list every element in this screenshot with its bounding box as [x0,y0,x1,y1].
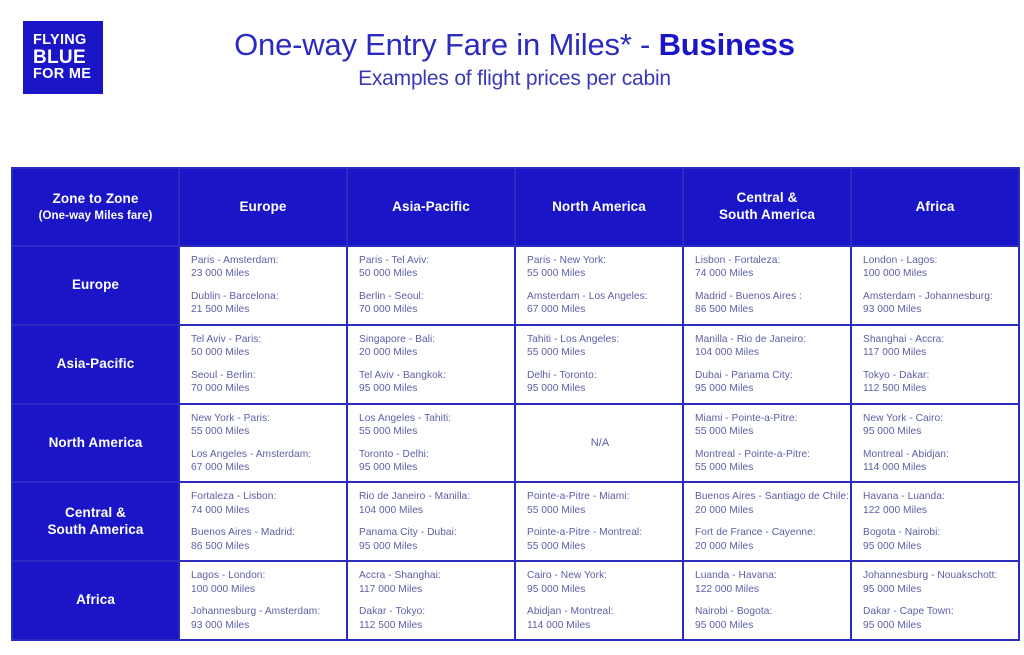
fare-route: Dublin - Barcelona: [191,290,337,303]
fare-example: Dubai - Panama City:95 000 Miles [695,369,841,396]
column-header-label: North America [552,199,646,214]
fare-miles: 20 000 Miles [695,540,841,553]
fare-cell-r3-c2: Pointe-a-Pitre - Miami:55 000 MilesPoint… [516,483,682,560]
row-header-label-line2: South America [19,522,172,539]
fare-example: Johannesburg - Nouakschott:95 000 Miles [863,569,1009,596]
column-header-europe: Europe [180,169,346,245]
fare-example: Tel Aviv - Paris:50 000 Miles [191,333,337,360]
fare-cell-r1-c1: Singapore - Bali:20 000 MilesTel Aviv - … [348,326,514,403]
fare-route: Fortaleza - Lisbon: [191,490,337,503]
fare-route: Tel Aviv - Bangkok: [359,369,505,382]
fare-cell-r2-c4: New York - Cairo:95 000 MilesMontreal - … [852,405,1018,482]
fare-route: Los Angeles - Tahiti: [359,412,505,425]
fare-example: Cairo - New York:95 000 Miles [527,569,673,596]
fare-route: Havana - Luanda: [863,490,1009,503]
fare-miles: 55 000 Miles [191,425,337,438]
fare-miles: 67 000 Miles [191,461,337,474]
fare-example: Tel Aviv - Bangkok:95 000 Miles [359,369,505,396]
fare-route: Shanghai - Accra: [863,333,1009,346]
fare-miles: 95 000 Miles [863,619,1009,632]
fare-example: Madrid - Buenos Aires :86 500 Miles [695,290,841,317]
fare-miles: 95 000 Miles [695,619,841,632]
fare-miles: 114 000 Miles [527,619,673,632]
table-header-row: Zone to Zone (One-way Miles fare) Europe… [13,169,1018,245]
row-header-europe: Europe [13,247,178,324]
fare-example: Miami - Pointe-a-Pitre:55 000 Miles [695,412,841,439]
fare-example: Havana - Luanda:122 000 Miles [863,490,1009,517]
fare-miles: 67 000 Miles [527,303,673,316]
title-block: One-way Entry Fare in Miles* - Business … [120,26,1024,91]
fare-route: Madrid - Buenos Aires : [695,290,841,303]
fare-cell-r4-c2: Cairo - New York:95 000 MilesAbidjan - M… [516,562,682,639]
fare-table-body: EuropeParis - Amsterdam:23 000 MilesDubl… [13,247,1018,639]
fare-route: Pointe-a-Pitre - Miami: [527,490,673,503]
fare-example: Paris - New York:55 000 Miles [527,254,673,281]
fare-route: Tahiti - Los Angeles: [527,333,673,346]
fare-route: Tokyo - Dakar: [863,369,1009,382]
fare-route: Miami - Pointe-a-Pitre: [695,412,841,425]
fare-route: Paris - Amsterdam: [191,254,337,267]
fare-example: Panama City - Dubai:95 000 Miles [359,526,505,553]
row-header-label: Asia-Pacific [57,356,135,371]
fare-example: Bogota - Nairobi:95 000 Miles [863,526,1009,553]
fare-miles: 117 000 Miles [863,346,1009,359]
fare-miles: 93 000 Miles [191,619,337,632]
fare-route: Los Angeles - Amsterdam: [191,448,337,461]
fare-route: Tel Aviv - Paris: [191,333,337,346]
fare-cell-r0-c1: Paris - Tel Aviv:50 000 MilesBerlin - Se… [348,247,514,324]
fare-miles: 104 000 Miles [695,346,841,359]
fare-route: London - Lagos: [863,254,1009,267]
logo-line-2: BLUE [33,48,86,68]
fare-example: Manilla - Rio de Janeiro:104 000 Miles [695,333,841,360]
fare-example: Toronto - Delhi:95 000 Miles [359,448,505,475]
fare-cell-r0-c2: Paris - New York:55 000 MilesAmsterdam -… [516,247,682,324]
fare-cell-r1-c3: Manilla - Rio de Janeiro:104 000 MilesDu… [684,326,850,403]
fare-route: Lisbon - Fortaleza: [695,254,841,267]
fare-miles: 74 000 Miles [695,267,841,280]
fare-miles: 86 500 Miles [695,303,841,316]
fare-example: Shanghai - Accra:117 000 Miles [863,333,1009,360]
page-title-prefix: One-way Entry Fare in Miles* - [234,27,658,62]
fare-miles: 70 000 Miles [359,303,505,316]
fare-cell-r4-c0: Lagos - London:100 000 MilesJohannesburg… [180,562,346,639]
fare-miles: 95 000 Miles [863,425,1009,438]
fare-example: Tokyo - Dakar:112 500 Miles [863,369,1009,396]
fare-example: Delhi - Toronto:95 000 Miles [527,369,673,396]
fare-route: Buenos Aires - Madrid: [191,526,337,539]
fare-miles: 55 000 Miles [527,540,673,553]
column-header-central-south-america: Central & South America [684,169,850,245]
fare-cell-r2-c3: Miami - Pointe-a-Pitre:55 000 MilesMontr… [684,405,850,482]
fare-cell-r1-c4: Shanghai - Accra:117 000 MilesTokyo - Da… [852,326,1018,403]
fare-route: Dakar - Cape Town: [863,605,1009,618]
fare-route: New York - Paris: [191,412,337,425]
fare-cell-r0-c4: London - Lagos:100 000 MilesAmsterdam - … [852,247,1018,324]
fare-miles: 55 000 Miles [695,461,841,474]
fare-example: New York - Cairo:95 000 Miles [863,412,1009,439]
fare-example: Dakar - Cape Town:95 000 Miles [863,605,1009,632]
fare-cell-r3-c4: Havana - Luanda:122 000 MilesBogota - Na… [852,483,1018,560]
fare-route: Nairobi - Bogota: [695,605,841,618]
fare-miles: 112 500 Miles [359,619,505,632]
row-header-asia-pacific: Asia-Pacific [13,326,178,403]
fare-route: Abidjan - Montreal: [527,605,673,618]
fare-example: Accra - Shanghai:117 000 Miles [359,569,505,596]
fare-miles: 112 500 Miles [863,382,1009,395]
table-row: EuropeParis - Amsterdam:23 000 MilesDubl… [13,247,1018,324]
column-header-label-line2: South America [690,207,844,224]
fare-table-container: Zone to Zone (One-way Miles fare) Europe… [11,167,1011,641]
fare-example: Berlin - Seoul:70 000 Miles [359,290,505,317]
not-available-label: N/A [591,437,610,449]
fare-example: London - Lagos:100 000 Miles [863,254,1009,281]
column-header-asia-pacific: Asia-Pacific [348,169,514,245]
fare-table: Zone to Zone (One-way Miles fare) Europe… [11,167,1020,641]
fare-route: Amsterdam - Johannesburg: [863,290,1009,303]
fare-route: Toronto - Delhi: [359,448,505,461]
table-row: AfricaLagos - London:100 000 MilesJohann… [13,562,1018,639]
fare-route: Amsterdam - Los Angeles: [527,290,673,303]
fare-route: Dakar - Tokyo: [359,605,505,618]
fare-example: Johannesburg - Amsterdam:93 000 Miles [191,605,337,632]
row-header-north-america: North America [13,405,178,482]
fare-example: Seoul - Berlin:70 000 Miles [191,369,337,396]
fare-cell-r4-c1: Accra - Shanghai:117 000 MilesDakar - To… [348,562,514,639]
fare-example: Abidjan - Montreal:114 000 Miles [527,605,673,632]
fare-route: Paris - New York: [527,254,673,267]
table-row: North AmericaNew York - Paris:55 000 Mil… [13,405,1018,482]
fare-miles: 70 000 Miles [191,382,337,395]
fare-miles: 104 000 Miles [359,504,505,517]
fare-example: Los Angeles - Amsterdam:67 000 Miles [191,448,337,475]
corner-header-cell: Zone to Zone (One-way Miles fare) [13,169,178,245]
column-header-label: Central & [737,190,798,205]
fare-example: Amsterdam - Los Angeles:67 000 Miles [527,290,673,317]
fare-cell-r4-c3: Luanda - Havana:122 000 MilesNairobi - B… [684,562,850,639]
fare-example: Dublin - Barcelona:21 500 Miles [191,290,337,317]
fare-example: Montreal - Abidjan:114 000 Miles [863,448,1009,475]
fare-example: Pointe-a-Pitre - Miami:55 000 Miles [527,490,673,517]
fare-miles: 55 000 Miles [527,267,673,280]
column-header-label: Asia-Pacific [392,199,470,214]
fare-route: Singapore - Bali: [359,333,505,346]
page-title: One-way Entry Fare in Miles* - Business [120,26,909,63]
flying-blue-logo: FLYING BLUE FOR ME [23,21,103,94]
fare-cell-r1-c2: Tahiti - Los Angeles:55 000 MilesDelhi -… [516,326,682,403]
fare-miles: 95 000 Miles [527,583,673,596]
fare-miles: 55 000 Miles [359,425,505,438]
column-header-africa: Africa [852,169,1018,245]
fare-route: Delhi - Toronto: [527,369,673,382]
fare-example: Montreal - Pointe-a-Pitre:55 000 Miles [695,448,841,475]
fare-route: Manilla - Rio de Janeiro: [695,333,841,346]
fare-route: Accra - Shanghai: [359,569,505,582]
fare-miles: 21 500 Miles [191,303,337,316]
row-header-central-south-america: Central &South America [13,483,178,560]
fare-example: Amsterdam - Johannesburg:93 000 Miles [863,290,1009,317]
fare-table-header: Zone to Zone (One-way Miles fare) Europe… [13,169,1018,245]
fare-miles: 55 000 Miles [527,346,673,359]
fare-miles: 95 000 Miles [359,382,505,395]
fare-miles: 95 000 Miles [359,540,505,553]
fare-miles: 95 000 Miles [863,540,1009,553]
fare-route: New York - Cairo: [863,412,1009,425]
fare-example: Rio de Janeiro - Manilla:104 000 Miles [359,490,505,517]
fare-example: Lisbon - Fortaleza:74 000 Miles [695,254,841,281]
table-row: Central &South AmericaFortaleza - Lisbon… [13,483,1018,560]
fare-example: Nairobi - Bogota:95 000 Miles [695,605,841,632]
fare-example: Los Angeles - Tahiti:55 000 Miles [359,412,505,439]
corner-header-title: Zone to Zone [53,191,139,206]
fare-route: Johannesburg - Nouakschott: [863,569,1009,582]
fare-cell-r3-c0: Fortaleza - Lisbon:74 000 MilesBuenos Ai… [180,483,346,560]
fare-miles: 95 000 Miles [359,461,505,474]
fare-miles: 93 000 Miles [863,303,1009,316]
column-header-north-america: North America [516,169,682,245]
fare-route: Bogota - Nairobi: [863,526,1009,539]
fare-route: Montreal - Pointe-a-Pitre: [695,448,841,461]
fare-route: Berlin - Seoul: [359,290,505,303]
fare-example: Paris - Amsterdam:23 000 Miles [191,254,337,281]
fare-route: Pointe-a-Pitre - Montreal: [527,526,673,539]
fare-route: Montreal - Abidjan: [863,448,1009,461]
table-row: Asia-PacificTel Aviv - Paris:50 000 Mile… [13,326,1018,403]
fare-miles: 20 000 Miles [359,346,505,359]
fare-cell-r0-c0: Paris - Amsterdam:23 000 MilesDublin - B… [180,247,346,324]
logo-line-3: FOR ME [33,67,91,82]
page-subtitle: Examples of flight prices per cabin [120,67,909,91]
fare-cell-r2-c0: New York - Paris:55 000 MilesLos Angeles… [180,405,346,482]
fare-example: Fort de France - Cayenne:20 000 Miles [695,526,841,553]
fare-cell-r3-c1: Rio de Janeiro - Manilla:104 000 MilesPa… [348,483,514,560]
fare-route: Luanda - Havana: [695,569,841,582]
fare-route: Johannesburg - Amsterdam: [191,605,337,618]
fare-example: Pointe-a-Pitre - Montreal:55 000 Miles [527,526,673,553]
fare-cell-r0-c3: Lisbon - Fortaleza:74 000 MilesMadrid - … [684,247,850,324]
page-title-emphasis: Business [659,27,795,62]
column-header-label: Europe [239,199,286,214]
fare-miles: 122 000 Miles [863,504,1009,517]
fare-example: Singapore - Bali:20 000 Miles [359,333,505,360]
fare-route: Panama City - Dubai: [359,526,505,539]
fare-route: Dubai - Panama City: [695,369,841,382]
fare-cell-r2-c1: Los Angeles - Tahiti:55 000 MilesToronto… [348,405,514,482]
column-header-label: Africa [916,199,955,214]
fare-example: Buenos Aires - Santiago de Chile:20 000 … [695,490,841,517]
fare-example: Tahiti - Los Angeles:55 000 Miles [527,333,673,360]
fare-route: Buenos Aires - Santiago de Chile: [695,490,841,503]
fare-miles: 50 000 Miles [359,267,505,280]
fare-cell-r4-c4: Johannesburg - Nouakschott:95 000 MilesD… [852,562,1018,639]
fare-example: New York - Paris:55 000 Miles [191,412,337,439]
fare-cell-r1-c0: Tel Aviv - Paris:50 000 MilesSeoul - Ber… [180,326,346,403]
fare-miles: 86 500 Miles [191,540,337,553]
page-header: FLYING BLUE FOR ME One-way Entry Fare in… [0,0,1024,130]
row-header-label: Africa [76,592,115,607]
fare-miles: 95 000 Miles [863,583,1009,596]
fare-miles: 95 000 Miles [695,382,841,395]
fare-route: Seoul - Berlin: [191,369,337,382]
row-header-africa: Africa [13,562,178,639]
fare-miles: 122 000 Miles [695,583,841,596]
fare-route: Paris - Tel Aviv: [359,254,505,267]
fare-miles: 20 000 Miles [695,504,841,517]
fare-cell-r3-c3: Buenos Aires - Santiago de Chile:20 000 … [684,483,850,560]
fare-example: Lagos - London:100 000 Miles [191,569,337,596]
fare-miles: 23 000 Miles [191,267,337,280]
fare-example: Buenos Aires - Madrid:86 500 Miles [191,526,337,553]
fare-miles: 114 000 Miles [863,461,1009,474]
fare-miles: 74 000 Miles [191,504,337,517]
fare-route: Fort de France - Cayenne: [695,526,841,539]
fare-miles: 50 000 Miles [191,346,337,359]
fare-cell-r2-c2: N/A [516,405,682,482]
fare-route: Cairo - New York: [527,569,673,582]
row-header-label: Central & [65,505,126,520]
fare-miles: 95 000 Miles [527,382,673,395]
fare-example: Dakar - Tokyo:112 500 Miles [359,605,505,632]
corner-header-subtitle: (One-way Miles fare) [19,209,172,223]
fare-example: Fortaleza - Lisbon:74 000 Miles [191,490,337,517]
fare-miles: 100 000 Miles [191,583,337,596]
fare-route: Rio de Janeiro - Manilla: [359,490,505,503]
fare-miles: 100 000 Miles [863,267,1009,280]
fare-route: Lagos - London: [191,569,337,582]
logo-line-1: FLYING [33,33,87,48]
row-header-label: North America [49,435,143,450]
fare-miles: 117 000 Miles [359,583,505,596]
row-header-label: Europe [72,277,119,292]
fare-example: Paris - Tel Aviv:50 000 Miles [359,254,505,281]
fare-miles: 55 000 Miles [527,504,673,517]
fare-example: Luanda - Havana:122 000 Miles [695,569,841,596]
fare-miles: 55 000 Miles [695,425,841,438]
